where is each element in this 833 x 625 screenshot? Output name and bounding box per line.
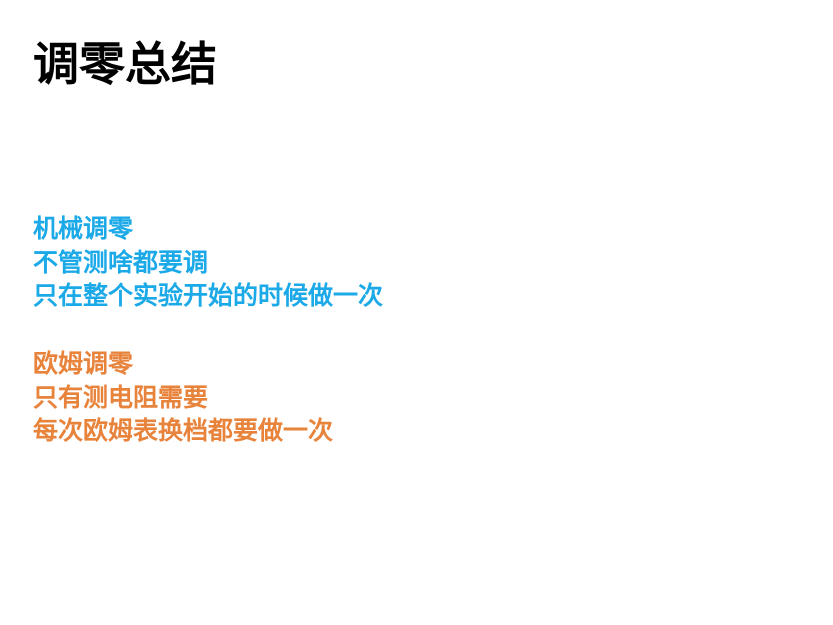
block-line-mechanical-2: 只在整个实验开始的时候做一次: [33, 279, 383, 313]
text-block-mechanical-zeroing: 机械调零 不管测啥都要调 只在整个实验开始的时候做一次: [33, 212, 383, 313]
block-line-mechanical-1: 不管测啥都要调: [33, 246, 383, 280]
text-block-ohm-zeroing: 欧姆调零 只有测电阻需要 每次欧姆表换档都要做一次: [33, 347, 333, 448]
block-line-ohm-2: 每次欧姆表换档都要做一次: [33, 414, 333, 448]
block-heading-mechanical: 机械调零: [33, 212, 383, 246]
block-heading-ohm: 欧姆调零: [33, 347, 333, 381]
page-title: 调零总结: [33, 38, 217, 91]
block-line-ohm-1: 只有测电阻需要: [33, 381, 333, 415]
slide-canvas: 调零总结 机械调零 不管测啥都要调 只在整个实验开始的时候做一次 欧姆调零 只有…: [0, 0, 833, 625]
